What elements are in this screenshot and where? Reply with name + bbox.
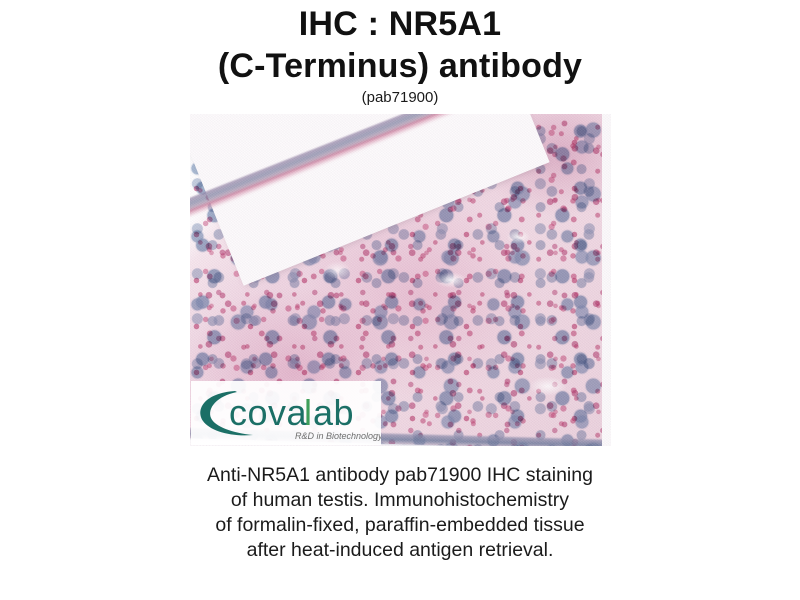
figure-page: IHC : NR5A1 (C-Terminus) antibody (pab71… [0,0,800,600]
catalog-number: (pab71900) [0,89,800,107]
covalab-wordmark-ab: ab [313,392,354,433]
covalab-wordmark-cova: cova [229,392,308,433]
covalab-wordmark-l: l [304,392,313,433]
covalab-watermark: cova l ab R&D in Biotechnology [191,381,381,445]
caption-line-2: of human testis. Immunohistochemistry [120,488,680,513]
page-title-line-2: (C-Terminus) antibody [0,46,800,86]
caption-line-4: after heat-induced antigen retrieval. [120,538,680,563]
title-block: IHC : NR5A1 (C-Terminus) antibody (pab71… [0,0,800,107]
caption-line-1: Anti-NR5A1 antibody pab71900 IHC stainin… [120,463,680,488]
caption-line-3: of formalin-fixed, paraffin-embedded tis… [120,513,680,538]
covalab-tagline: R&D in Biotechnology [295,431,381,441]
covalab-logo-icon: cova l ab R&D in Biotechnology [191,381,381,445]
micrograph-figure: cova l ab R&D in Biotechnology [190,114,611,446]
figure-caption: Anti-NR5A1 antibody pab71900 IHC stainin… [120,463,680,563]
page-title-line-1: IHC : NR5A1 [0,4,800,44]
